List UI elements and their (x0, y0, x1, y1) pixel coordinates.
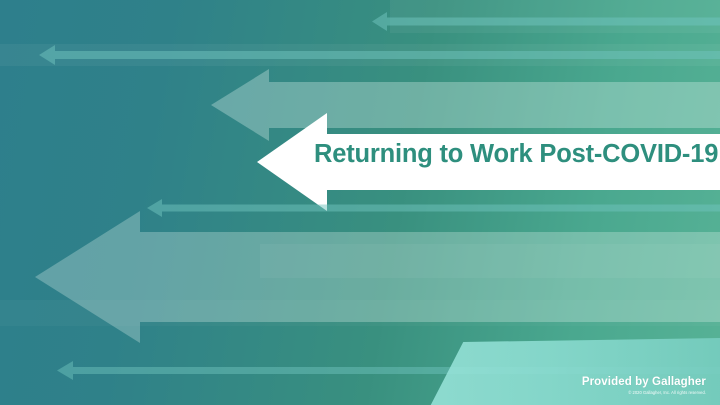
thin-arrow-middle-icon (147, 199, 720, 217)
background-band-4 (0, 300, 720, 326)
background-band-1 (390, 0, 720, 33)
big-arrow-upper-icon (211, 69, 720, 141)
background-band-3 (260, 244, 720, 278)
background-band-2 (0, 44, 720, 66)
footer: Provided by Gallagher © 2020 Gallagher, … (582, 375, 706, 396)
slide-title: Returning to Work Post-COVID-19 (314, 142, 714, 168)
footer-provider: Provided by Gallagher (582, 375, 706, 389)
footer-copyright: © 2020 Gallagher, Inc. All rights reserv… (582, 390, 706, 396)
presentation-slide: Returning to Work Post-COVID-19 Provided… (0, 0, 720, 405)
